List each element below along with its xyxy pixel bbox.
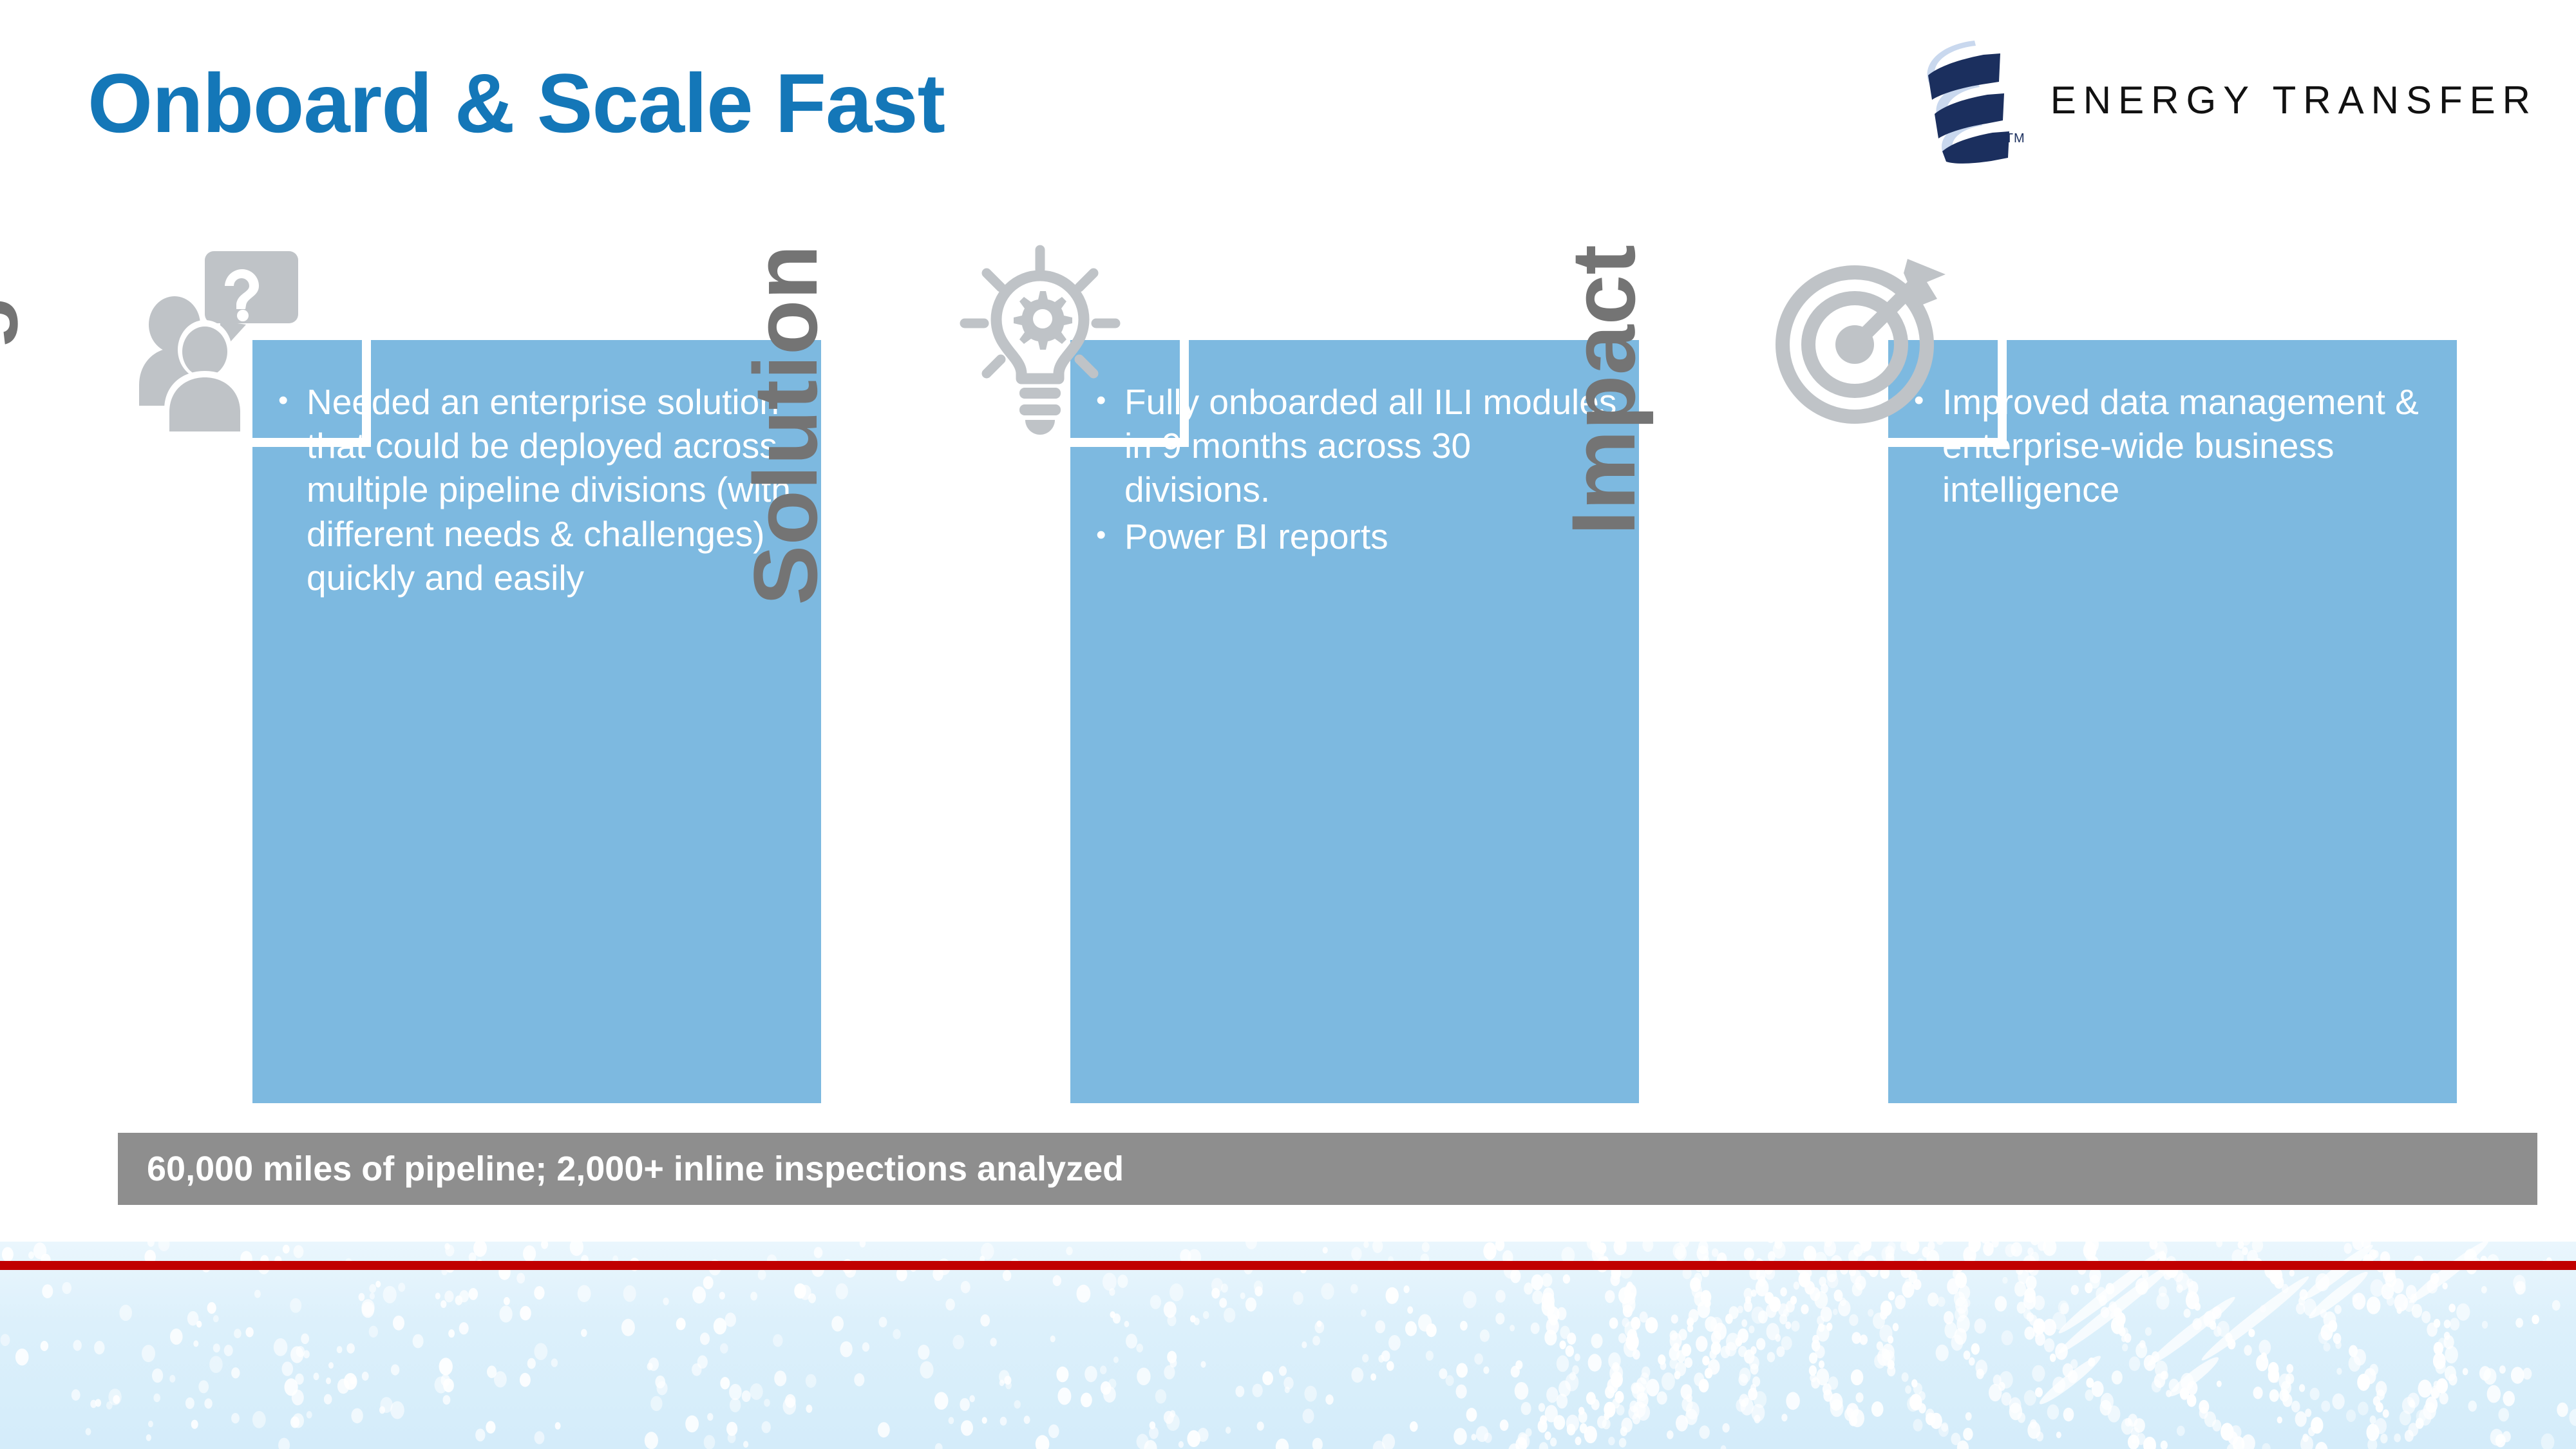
trademark-mark: TM: [2005, 131, 2025, 146]
target-arrow-bullseye-icon: [1765, 245, 1971, 438]
bullet-text: Improved data management & enterprise-wi…: [1942, 380, 2436, 512]
bullet-text: Power BI reports: [1124, 515, 1618, 558]
column-label-text: Challenge: [0, 245, 13, 676]
bullet-text: Needed an enterprise solution that could…: [307, 380, 800, 600]
list-item: • Needed an enterprise solution that cou…: [278, 380, 800, 600]
column-solution: Solution • Fully onboarded all ILI modul…: [947, 245, 1687, 1104]
column-impact: Impact • Improved data management & ente…: [1765, 245, 2505, 1104]
bullet-list: • Fully onboarded all ILI modules in 9 m…: [1096, 380, 1618, 561]
list-item: • Improved data management & enterprise-…: [1914, 380, 2436, 512]
stat-bar: 60,000 miles of pipeline; 2,000+ inline …: [118, 1133, 2537, 1205]
people-question-bubble-icon: [129, 245, 335, 438]
footer-accent-line: [0, 1261, 2576, 1270]
column-challenge: Challenge • Needed an enterprise solutio…: [129, 245, 869, 1104]
stat-bar-text: 60,000 miles of pipeline; 2,000+ inline …: [147, 1149, 1124, 1189]
footer-decoration-band: [0, 1242, 2576, 1449]
page-title: Onboard & Scale Fast: [88, 61, 945, 145]
bullet-marker-icon: •: [1096, 515, 1124, 556]
list-item: • Power BI reports: [1096, 515, 1618, 558]
logo-wordmark: ENERGY TRANSFER: [2050, 78, 2537, 122]
column-label-challenge: Challenge: [0, 245, 13, 889]
dotted-wave-pattern-icon: [0, 1242, 2576, 1449]
brand-logo: TM ENERGY TRANSFER: [1915, 35, 2537, 164]
lightbulb-gear-idea-icon: [947, 245, 1153, 438]
bullet-text: Fully onboarded all ILI modules in 9 mon…: [1124, 380, 1618, 512]
list-item: • Fully onboarded all ILI modules in 9 m…: [1096, 380, 1618, 512]
bullet-list: • Improved data management & enterprise-…: [1914, 380, 2436, 515]
bullet-list: • Needed an enterprise solution that cou…: [278, 380, 800, 602]
